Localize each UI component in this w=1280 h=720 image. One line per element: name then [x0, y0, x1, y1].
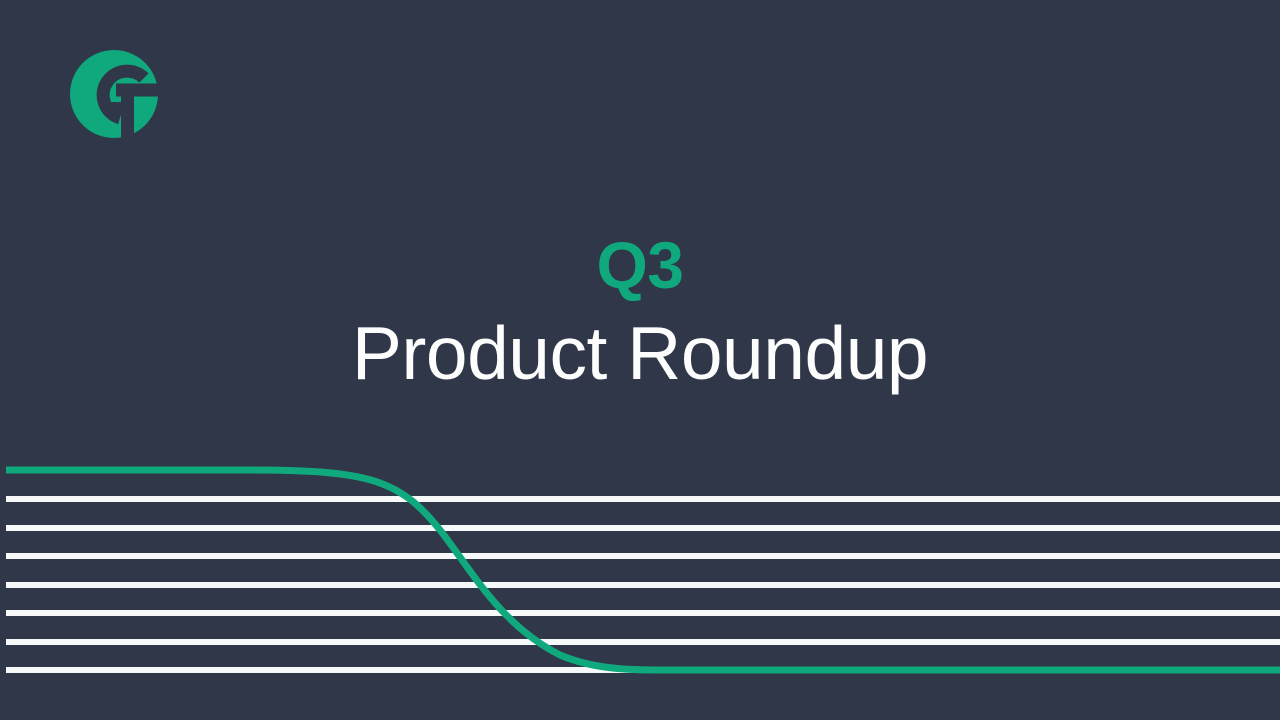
stripe-line [6, 582, 1280, 588]
stripe-line [6, 496, 1280, 502]
stripe-line [6, 610, 1280, 616]
stripe-group [6, 496, 1280, 673]
brand-logo-svg [70, 50, 158, 138]
footer-graphic-svg [0, 460, 1280, 720]
brand-g-circle-logo[interactable] [70, 50, 158, 138]
logo-circle [70, 50, 158, 138]
stripe-line [6, 525, 1280, 531]
page-title: Product Roundup [0, 316, 1280, 391]
title-block: Q3 Product Roundup [0, 232, 1280, 391]
footer-graphic [0, 460, 1280, 720]
eyebrow-label: Q3 [0, 232, 1280, 298]
slide-canvas: Q3 Product Roundup [0, 0, 1280, 720]
stripe-line [6, 639, 1280, 645]
stripe-line [6, 553, 1280, 559]
